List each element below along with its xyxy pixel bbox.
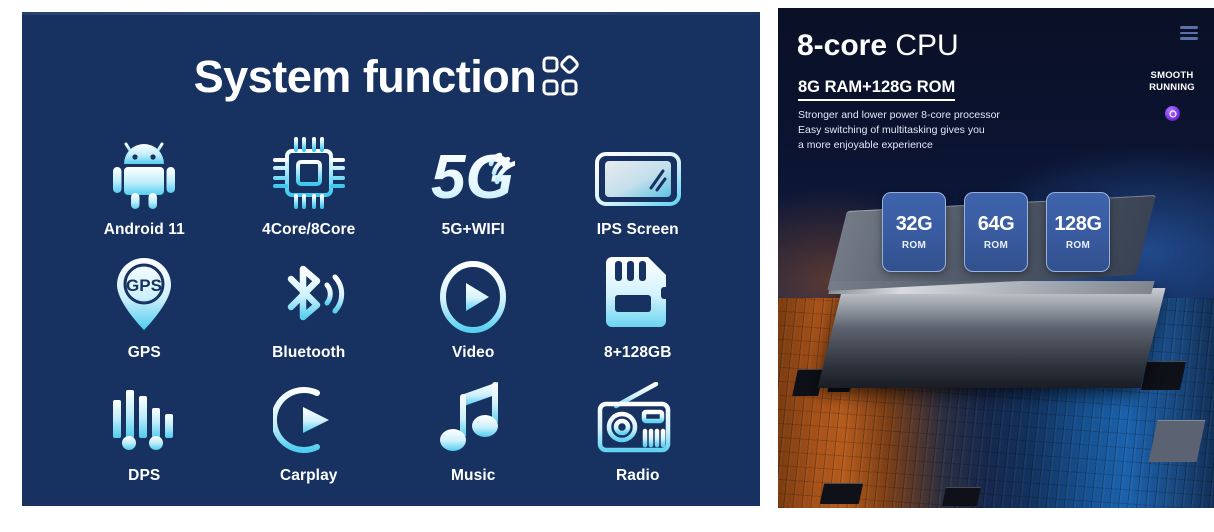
feature-icon-slot xyxy=(107,378,181,456)
board-chip xyxy=(1148,420,1205,462)
feature-dps[interactable]: DPS xyxy=(62,378,227,485)
feature-label: Radio xyxy=(616,467,660,485)
panel-top-edge xyxy=(22,12,760,15)
sd-card-icon xyxy=(606,255,670,333)
promo-banner: System function xyxy=(0,0,1214,532)
feature-icon-slot xyxy=(596,378,680,456)
feature-grid: Android 11 xyxy=(62,132,720,485)
music-note-icon xyxy=(440,380,506,456)
feature-music[interactable]: Music xyxy=(391,378,556,485)
ips-screen-icon xyxy=(594,148,682,210)
rom-option-value: 64G xyxy=(978,214,1015,234)
feature-icon-slot xyxy=(606,255,670,333)
system-function-panel: System function xyxy=(22,12,760,506)
5g-wifi-icon: 5G xyxy=(431,140,515,210)
feature-icon-slot xyxy=(440,378,506,456)
rom-option-unit: ROM xyxy=(1066,240,1090,251)
feature-label: IPS Screen xyxy=(597,221,679,239)
feature-icon-slot xyxy=(273,378,345,456)
feature-icon-slot xyxy=(271,255,347,333)
menu-bar xyxy=(1180,26,1198,29)
cpu-subtitle: 8G RAM+128G ROM xyxy=(798,78,955,101)
rom-option[interactable]: 64G ROM xyxy=(964,192,1028,272)
feature-icon-slot xyxy=(594,132,682,210)
feature-label: Video xyxy=(452,344,494,362)
equalizer-icon xyxy=(107,384,181,456)
feature-5g-wifi[interactable]: 5G 5G+WIFI xyxy=(391,132,556,239)
feature-icon-slot: 5G xyxy=(431,132,515,210)
cpu-title-bold: 8-core xyxy=(797,29,887,62)
feature-row: DPS Carplay xyxy=(62,378,720,485)
feature-label: Carplay xyxy=(280,467,338,485)
feature-label: Bluetooth xyxy=(272,344,345,362)
page-title: System function xyxy=(22,54,760,99)
feature-icon-slot xyxy=(272,132,346,210)
feature-icon-slot xyxy=(437,255,509,333)
feature-cpu[interactable]: 4Core/8Core xyxy=(227,132,392,239)
android-icon xyxy=(111,136,177,210)
rom-option-unit: ROM xyxy=(984,240,1008,251)
purple-dot-icon[interactable] xyxy=(1165,106,1180,121)
cpu-die-body xyxy=(818,288,1166,388)
cpu-description-line: Easy switching of multitasking gives you xyxy=(798,123,1000,138)
board-chip xyxy=(942,487,981,506)
feature-android[interactable]: Android 11 xyxy=(62,132,227,239)
feature-label: 8+128GB xyxy=(604,344,671,362)
menu-bar xyxy=(1180,37,1198,40)
feature-ips-screen[interactable]: IPS Screen xyxy=(556,132,721,239)
feature-gps[interactable]: GPS GPS xyxy=(62,255,227,362)
video-play-icon xyxy=(437,261,509,333)
feature-label: 4Core/8Core xyxy=(262,221,355,239)
feature-label: 5G+WIFI xyxy=(442,221,505,239)
rom-options-row: 32G ROM 64G ROM 128G ROM xyxy=(778,192,1214,272)
carplay-icon xyxy=(273,384,345,456)
rom-option-value: 32G xyxy=(896,214,933,234)
feature-icon-slot: GPS xyxy=(113,255,175,333)
bluetooth-icon xyxy=(271,259,347,333)
feature-carplay[interactable]: Carplay xyxy=(227,378,392,485)
feature-icon-slot xyxy=(111,132,177,210)
page-title-text: System function xyxy=(194,54,537,99)
feature-bluetooth[interactable]: Bluetooth xyxy=(227,255,392,362)
radio-icon xyxy=(596,382,680,456)
smooth-running-line2: RUNNING xyxy=(1142,82,1202,94)
rom-option[interactable]: 32G ROM xyxy=(882,192,946,272)
dot-inner-glyph xyxy=(1169,110,1177,118)
cpu-title-light: CPU xyxy=(887,29,959,62)
rom-option-value: 128G xyxy=(1054,214,1101,234)
cpu-description-line: a more enjoyable experience xyxy=(798,138,1000,153)
hamburger-menu-icon[interactable] xyxy=(1180,26,1198,43)
smooth-running-label: SMOOTH RUNNING xyxy=(1142,70,1202,94)
feature-label: Android 11 xyxy=(104,221,185,239)
cpu-description: Stronger and lower power 8-core processo… xyxy=(798,108,1000,154)
cpu-chip-icon xyxy=(272,136,346,210)
feature-row: Android 11 xyxy=(62,132,720,239)
cpu-spec-panel: 8 CORE 8-core CPU 8G RAM+128G ROM Strong… xyxy=(778,8,1214,508)
smooth-running-line1: SMOOTH xyxy=(1142,70,1202,82)
board-chip xyxy=(1141,361,1186,390)
feature-radio[interactable]: Radio xyxy=(556,378,721,485)
feature-label: DPS xyxy=(128,467,160,485)
cpu-description-line: Stronger and lower power 8-core processo… xyxy=(798,108,1000,123)
rom-option[interactable]: 128G ROM xyxy=(1046,192,1110,272)
feature-label: Music xyxy=(451,467,495,485)
cpu-title: 8-core CPU xyxy=(797,30,959,62)
grid-diamond-icon xyxy=(542,55,588,99)
feature-video[interactable]: Video xyxy=(391,255,556,362)
board-chip xyxy=(819,483,863,504)
svg-text:GPS: GPS xyxy=(126,276,162,295)
feature-label: GPS xyxy=(128,344,161,362)
gps-pin-icon: GPS xyxy=(113,255,175,333)
feature-row: GPS GPS xyxy=(62,255,720,362)
feature-storage[interactable]: 8+128GB xyxy=(556,255,721,362)
menu-bar xyxy=(1180,32,1198,35)
rom-option-unit: ROM xyxy=(902,240,926,251)
